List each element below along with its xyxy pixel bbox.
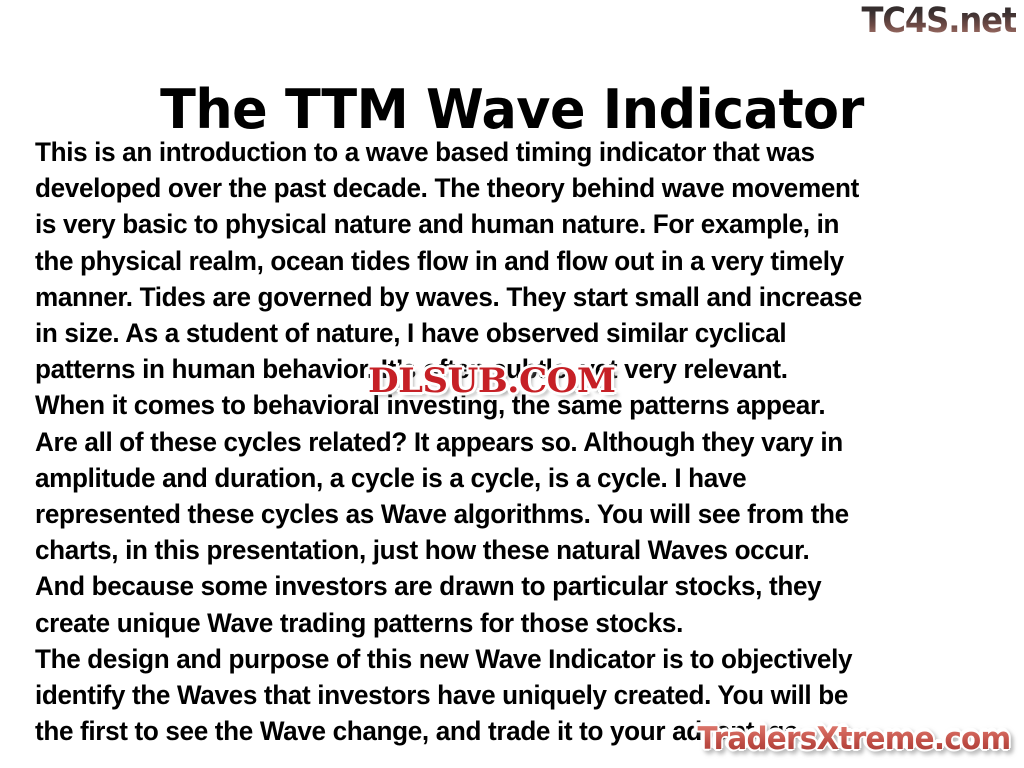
body-line: And because some investors are drawn to … — [35, 568, 986, 604]
dlsub-watermark: DLSUB.COM — [368, 362, 616, 400]
body-line: create unique Wave trading patterns for … — [35, 605, 986, 641]
body-line: in size. As a student of nature, I have … — [35, 315, 986, 351]
page-title: The TTM Wave Indicator — [15, 78, 1008, 142]
body-line: identify the Waves that investors have u… — [35, 677, 986, 713]
presentation-slide: TC4S.net The TTM Wave Indicator This is … — [0, 0, 1024, 768]
body-line: manner. Tides are governed by waves. The… — [35, 279, 986, 315]
body-line: represented these cycles as Wave algorit… — [35, 496, 986, 532]
body-text-block: This is an introduction to a wave based … — [35, 134, 1000, 749]
body-line: the physical realm, ocean tides flow in … — [35, 243, 986, 279]
body-line: is very basic to physical nature and hum… — [35, 206, 986, 242]
tc4s-brand-logo: TC4S.net — [861, 2, 1016, 40]
tradersxtreme-footer-logo: TradersXtreme.com — [697, 720, 1010, 758]
body-line: developed over the past decade. The theo… — [35, 170, 986, 206]
body-line: This is an introduction to a wave based … — [35, 134, 986, 170]
body-line: amplitude and duration, a cycle is a cyc… — [35, 460, 986, 496]
body-line: charts, in this presentation, just how t… — [35, 532, 986, 568]
body-line: The design and purpose of this new Wave … — [35, 641, 986, 677]
body-line: Are all of these cycles related? It appe… — [35, 424, 986, 460]
